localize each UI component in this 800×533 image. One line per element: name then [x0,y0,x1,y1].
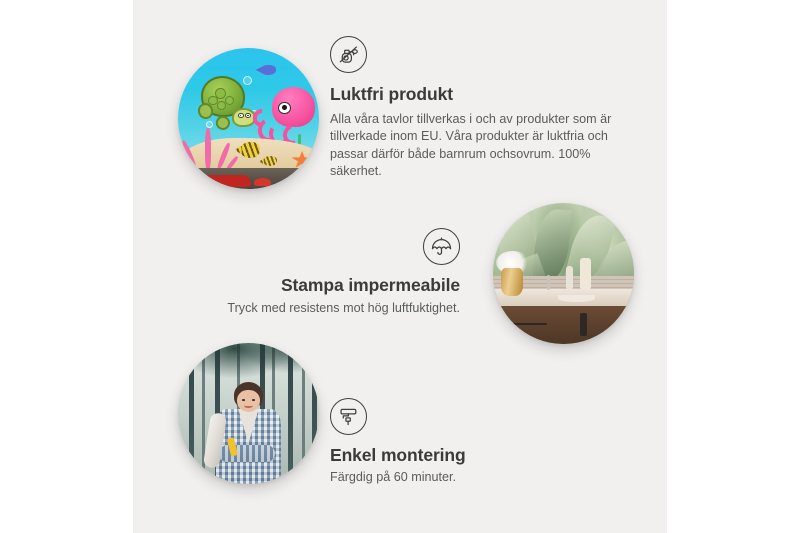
octopus-icon [256,87,315,146]
fish-icon [260,65,276,75]
bathroom-faucet [547,275,550,291]
feature-description: Färgdig på 60 minuter. [330,469,610,486]
towel-roll-icon [580,258,591,289]
feature-description: Tryck med resistens mot hög luftfuktighe… [180,300,460,317]
feature-description: Alla våra tavlor tillverkas i och av pro… [330,111,630,180]
bathroom-basin [558,295,595,302]
octopus-head [272,87,315,126]
no-fragrance-icon [330,36,367,73]
coral-icon [186,128,234,170]
bathroom-scene [493,203,634,344]
gold-vase-icon [501,268,522,296]
icon-wrap [330,36,630,73]
icon-wrap [180,228,460,265]
paint-roller-icon [330,398,367,435]
promo-banner: Luktfri produkt Alla våra tavlor tillver… [0,0,800,533]
folded-arms [219,445,275,461]
underwater-scene [178,48,319,189]
feature-assembly: Enkel montering Färgdig på 60 minuter. [330,398,610,486]
umbrella-icon [423,228,460,265]
feature-odourless: Luktfri produkt Alla våra tavlor tillver… [330,36,630,180]
feature-waterproof: Stampa impermeabile Tryck med resistens … [180,228,460,317]
feature-title: Stampa impermeabile [180,275,460,295]
underwater-kids-mural-photo [178,48,319,189]
bathroom-cabinet [493,306,634,344]
icon-wrap [330,398,610,435]
fish-icon [240,142,260,158]
turtle-icon [198,76,257,128]
woman-figure [212,382,285,484]
forest-scene [178,343,319,484]
sea-floor [178,168,319,189]
woman-with-wallpaper-roll-photo [178,343,319,484]
feature-title: Luktfri produkt [330,84,630,104]
soap-bottle-icon [566,266,573,289]
bathroom-leaf-wallpaper-photo [493,203,634,344]
face [237,390,260,412]
feature-title: Enkel montering [330,445,610,465]
